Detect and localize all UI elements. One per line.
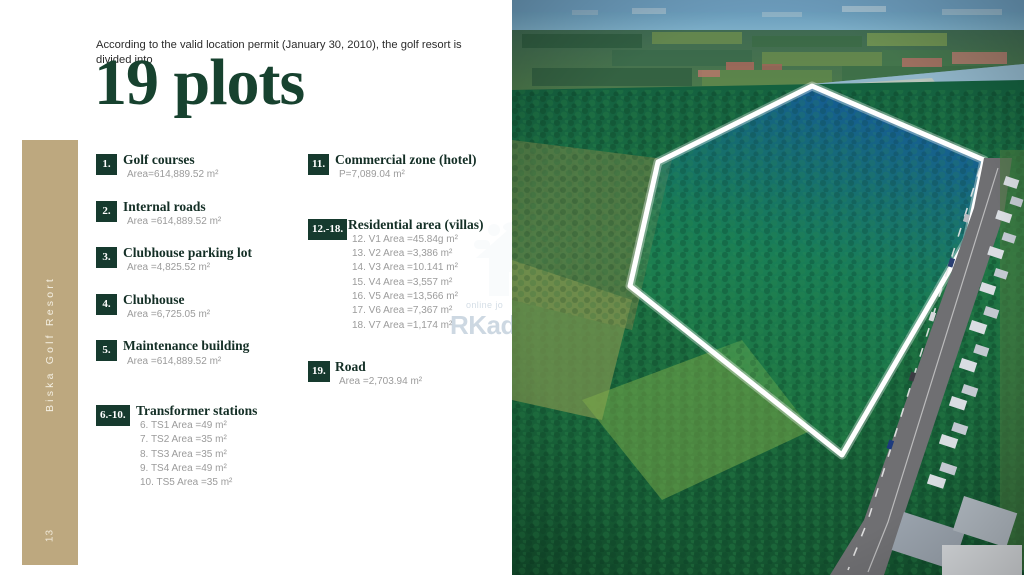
page-title: 19 plots (94, 50, 304, 116)
list-item: 12.-18. Residential area (villas) 12. V1… (308, 217, 513, 333)
plot-title: Residential area (villas) (348, 217, 513, 232)
plot-badge: 12.-18. (308, 219, 347, 240)
plot-sublist: 6. TS1 Area =49 m² 7. TS2 Area =35 m² 8.… (136, 419, 301, 490)
plot-badge: 11. (308, 154, 329, 175)
plot-area: Area =6,725.05 m² (123, 308, 301, 323)
list-item: 1. Golf courses Area=614,889.52 m² (96, 152, 301, 183)
plot-subitem: 6. TS1 Area =49 m² (136, 419, 301, 433)
plot-sublist: 12. V1 Area =45.84g m² 13. V2 Area =3,38… (348, 233, 513, 333)
plot-badge: 2. (96, 201, 117, 222)
plot-list-left: 1. Golf courses Area=614,889.52 m² 2. In… (96, 152, 301, 507)
list-item: 2. Internal roads Area =614,889.52 m² (96, 199, 301, 230)
plot-area: Area =614,889.52 m² (123, 355, 301, 370)
list-item: 3. Clubhouse parking lot Area =4,825.52 … (96, 245, 301, 276)
plot-subitem: 15. V4 Area =3,557 m² (348, 276, 513, 290)
plot-list-right: 11. Commercial zone (hotel) P=7,089.04 m… (308, 152, 513, 405)
list-item: 5. Maintenance building Area =614,889.52… (96, 338, 301, 369)
plot-subitem: 10. TS5 Area =35 m² (136, 476, 301, 490)
plot-badge: 5. (96, 340, 117, 361)
page-number: 13 (45, 529, 56, 542)
plot-badge: 1. (96, 154, 117, 175)
plot-title: Golf courses (123, 152, 301, 167)
plot-area: Area=614,889.52 m² (123, 168, 301, 183)
plot-subitem: 14. V3 Area =10.141 m² (348, 261, 513, 275)
list-item: 11. Commercial zone (hotel) P=7,089.04 m… (308, 152, 513, 183)
plot-subitem: 9. TS4 Area =49 m² (136, 462, 301, 476)
left-sidebar: Biska Golf Resort 13 (22, 140, 78, 565)
aerial-photo-illustration (512, 0, 1024, 575)
list-item: 19. Road Area =2,703.94 m² (308, 359, 513, 390)
plot-area: P=7,089.04 m² (335, 168, 513, 183)
plot-badge: 4. (96, 294, 117, 315)
plot-title: Internal roads (123, 199, 301, 214)
sidebar-resort-title: Biska Golf Resort (44, 276, 56, 412)
aerial-photo (512, 0, 1024, 575)
plot-title: Clubhouse parking lot (123, 245, 301, 260)
plot-badge: 3. (96, 247, 117, 268)
plot-title: Clubhouse (123, 292, 301, 307)
plot-subitem: 12. V1 Area =45.84g m² (348, 233, 513, 247)
plot-area: Area =614,889.52 m² (123, 215, 301, 230)
plot-title: Road (335, 359, 513, 374)
plot-subitem: 7. TS2 Area =35 m² (136, 433, 301, 447)
plot-area: Area =2,703.94 m² (335, 375, 513, 390)
slide-root: Biska Golf Resort 13 According to the va… (0, 0, 1024, 575)
plot-subitem: 8. TS3 Area =35 m² (136, 448, 301, 462)
plot-title: Transformer stations (136, 403, 301, 418)
list-item: 4. Clubhouse Area =6,725.05 m² (96, 292, 301, 323)
plot-title: Commercial zone (hotel) (335, 152, 513, 167)
plot-badge: 6.-10. (96, 405, 130, 426)
plot-title: Maintenance building (123, 338, 301, 353)
list-item: 6.-10. Transformer stations 6. TS1 Area … (96, 403, 301, 491)
plot-subitem: 16. V5 Area =13,566 m² (348, 290, 513, 304)
plot-badge: 19. (308, 361, 330, 382)
plot-subitem: 17. V6 Area =7,367 m² (348, 304, 513, 318)
plot-subitem: 13. V2 Area =3,386 m² (348, 247, 513, 261)
plot-area: Area =4,825.52 m² (123, 261, 301, 276)
plot-subitem: 18. V7 Area =1,174 m² (348, 319, 513, 333)
